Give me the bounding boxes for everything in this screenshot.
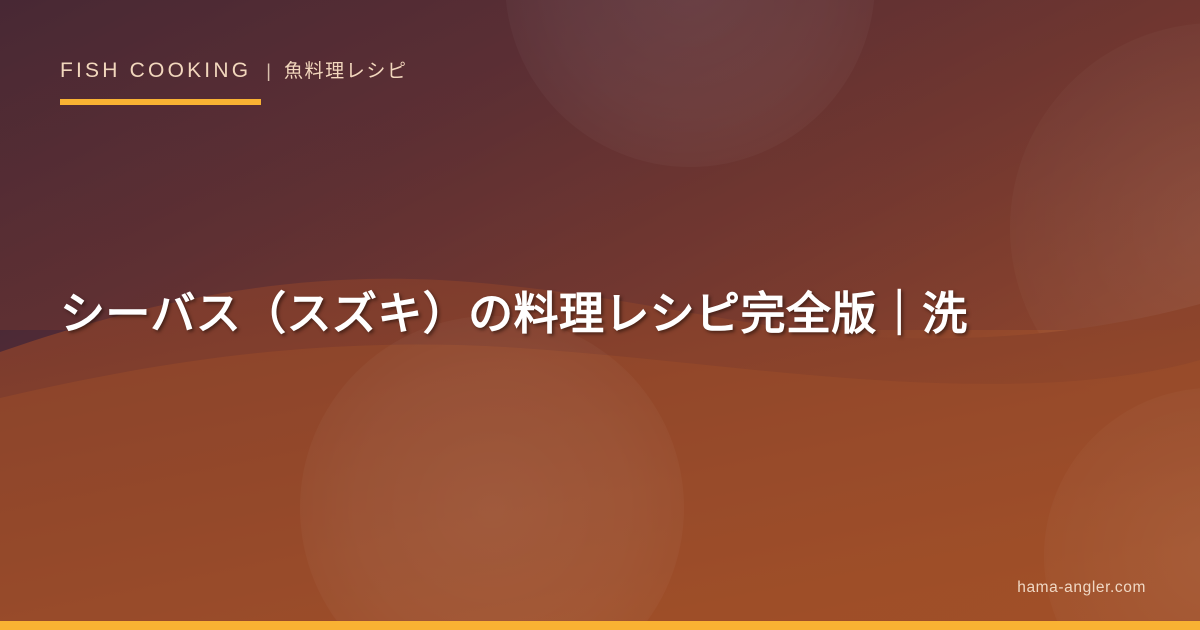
bottom-accent-bar <box>0 621 1200 630</box>
eyebrow: FISH COOKING | 魚料理レシピ <box>60 56 408 83</box>
eyebrow-label-jp: 魚料理レシピ <box>284 56 408 83</box>
eyebrow-separator: | <box>266 61 271 82</box>
page-title: シーバス（スズキ）の料理レシピ完全版｜洗 <box>60 284 1150 344</box>
site-url: hama-angler.com <box>1017 579 1146 597</box>
eyebrow-label-en: FISH COOKING <box>60 59 251 83</box>
content-layer: FISH COOKING | 魚料理レシピ シーバス（スズキ）の料理レシピ完全版… <box>0 0 1200 630</box>
og-card: FISH COOKING | 魚料理レシピ シーバス（スズキ）の料理レシピ完全版… <box>0 0 1200 630</box>
eyebrow-underline-rule <box>60 99 261 105</box>
